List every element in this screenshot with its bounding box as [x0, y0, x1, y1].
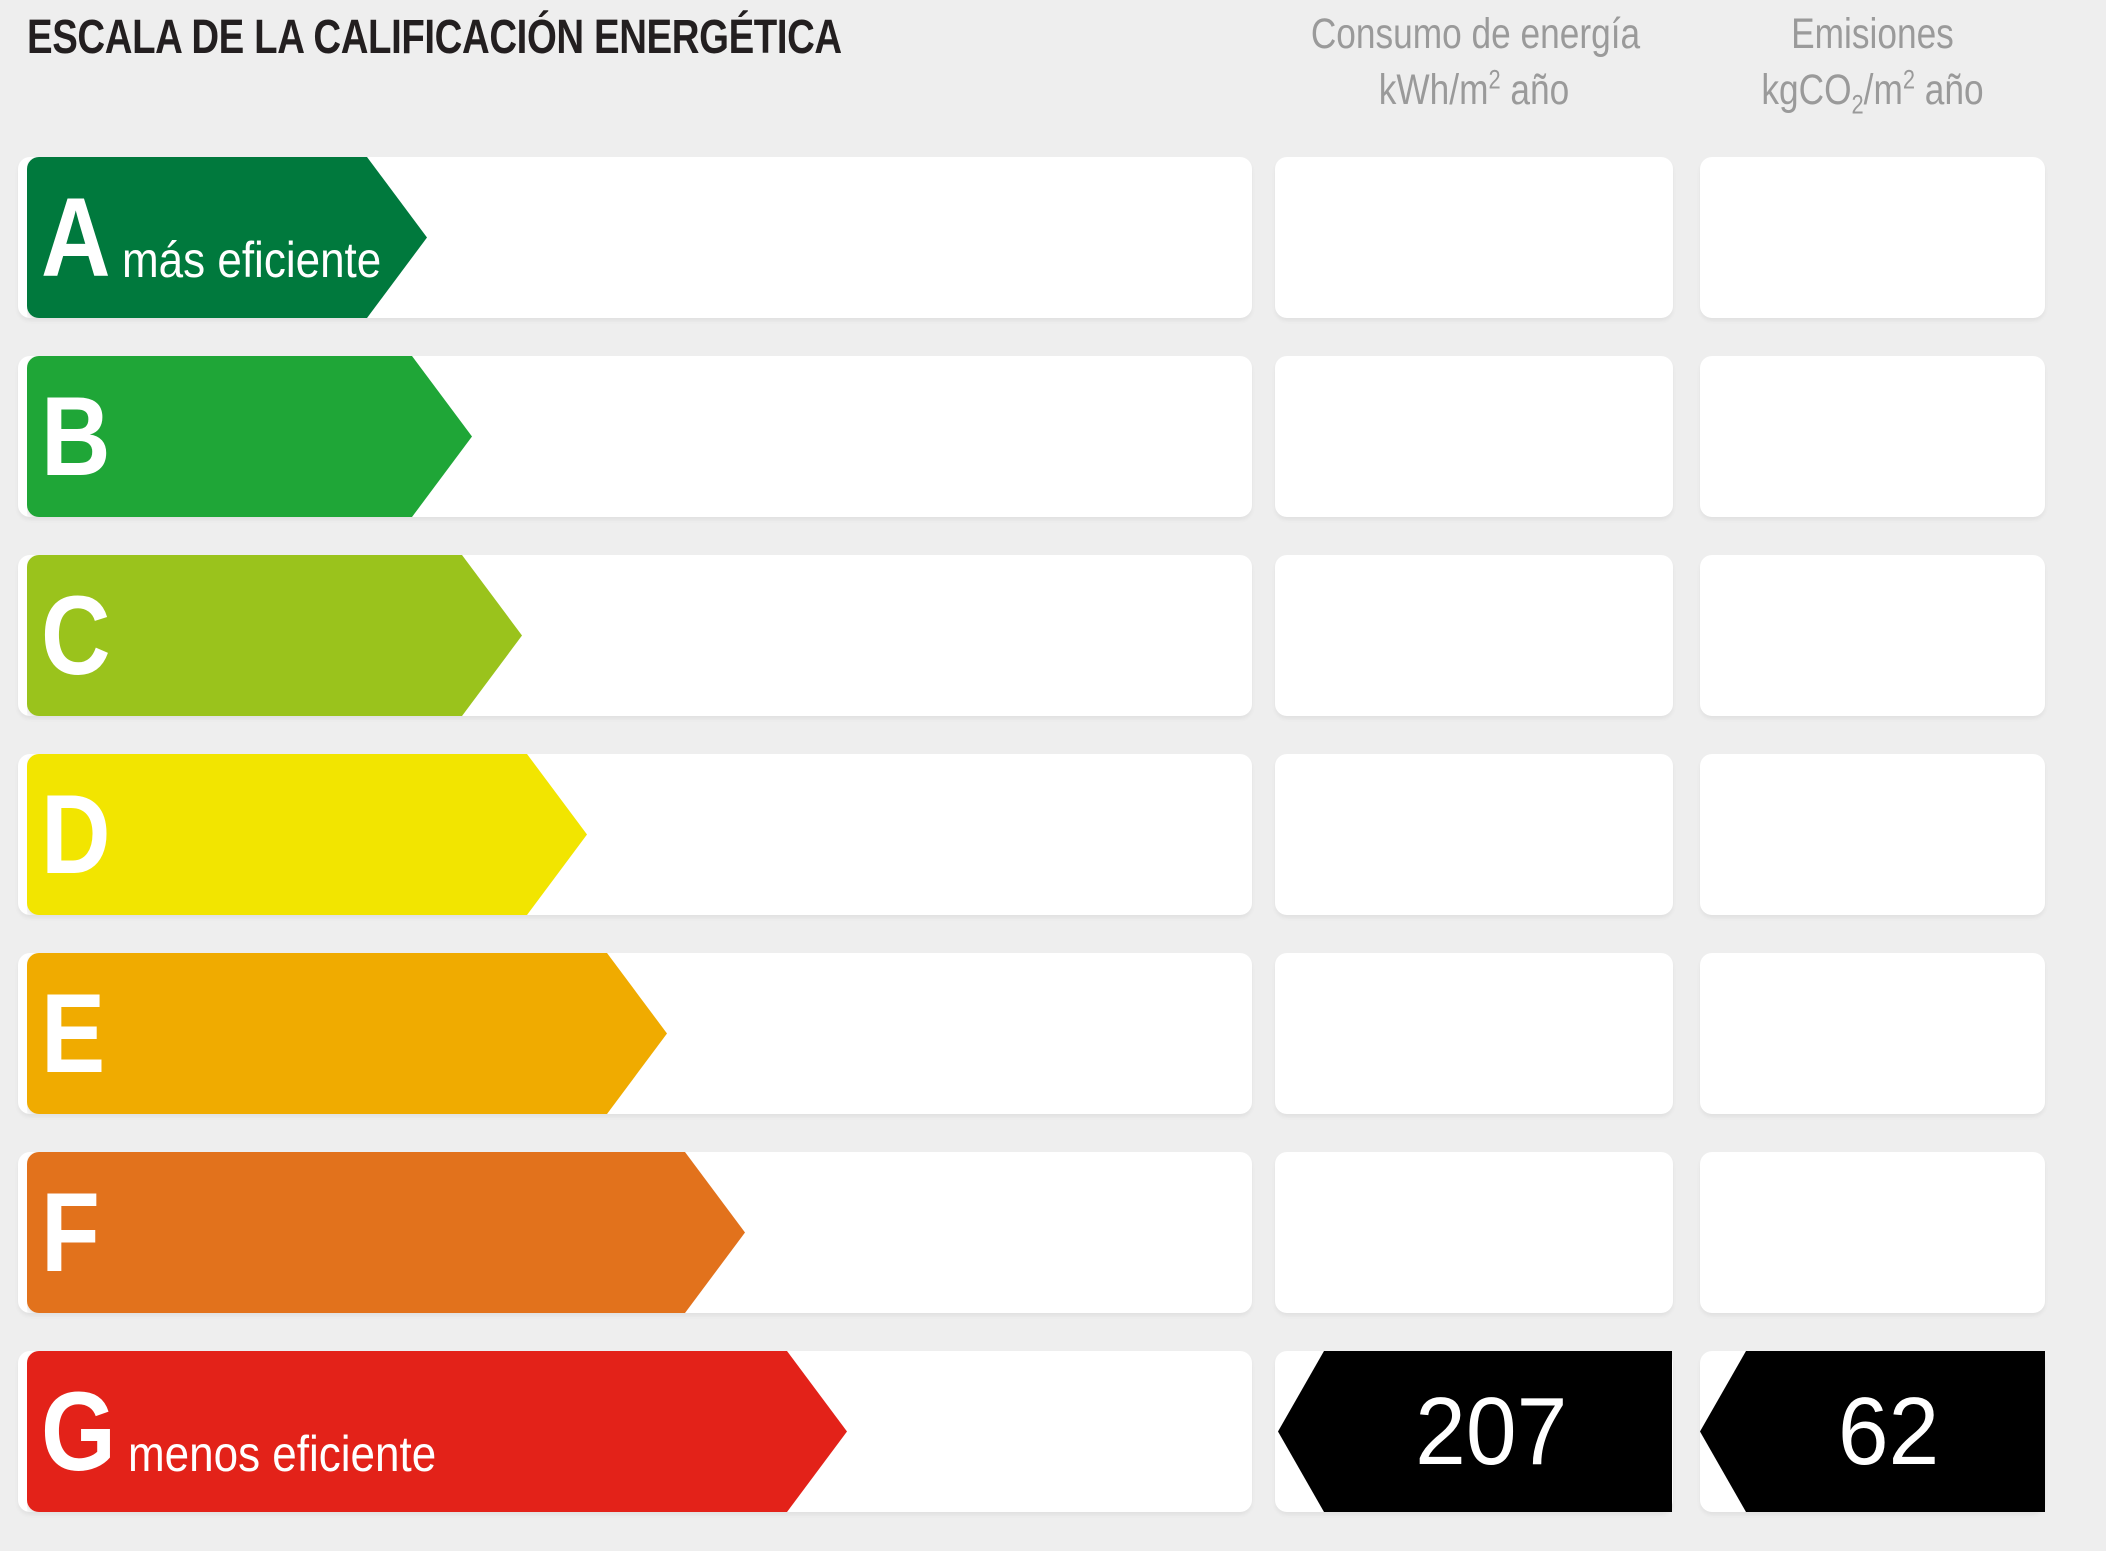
emisiones-cell-b [1700, 356, 2045, 517]
column-header-emisiones: Emisiones kgCO2/m2 año [1700, 6, 2045, 118]
band-note-a: más eficiente [122, 235, 381, 285]
emisiones-cell-a [1700, 157, 2045, 318]
consumo-cell-f [1275, 1152, 1673, 1313]
band-grade-letter-f: F [41, 1189, 100, 1276]
consumo-cell-a [1275, 157, 1673, 318]
rating-row-a: Amás eficiente [0, 157, 2106, 318]
emisiones-cell-e [1700, 953, 2045, 1114]
rating-row-g: Gmenos eficiente20762 [0, 1351, 2106, 1512]
band-grade-letter-g: G [41, 1388, 116, 1475]
column-header-consumo-line2: kWh/m2 año [1311, 62, 1637, 118]
header: ESCALA DE LA CALIFICACIÓN ENERGÉTICA Con… [0, 0, 2106, 145]
energy-band-d: D [27, 754, 587, 915]
emisiones-value-badge-text: 62 [1806, 1384, 1940, 1480]
band-grade-letter-b: B [41, 393, 111, 480]
energy-rating-scale: ESCALA DE LA CALIFICACIÓN ENERGÉTICA Con… [0, 0, 2106, 1551]
rating-row-f: F [0, 1152, 2106, 1313]
energy-band-a: Amás eficiente [27, 157, 427, 318]
page-title: ESCALA DE LA CALIFICACIÓN ENERGÉTICA [27, 10, 842, 65]
column-header-emisiones-line2: kgCO2/m2 año [1731, 62, 2014, 118]
energy-band-c: C [27, 555, 522, 716]
column-header-consumo-line1: Consumo de energía [1311, 6, 1637, 62]
consumo-cell-b [1275, 356, 1673, 517]
energy-band-g: Gmenos eficiente [27, 1351, 847, 1512]
consumo-value-badge-text: 207 [1383, 1384, 1567, 1480]
energy-band-f: F [27, 1152, 745, 1313]
consumo-cell-c [1275, 555, 1673, 716]
band-grade-letter-d: D [41, 791, 111, 878]
rating-row-d: D [0, 754, 2106, 915]
band-grade-letter-c: C [41, 592, 111, 679]
band-grade-letter-e: E [41, 990, 105, 1077]
consumo-value-badge: 207 [1278, 1351, 1672, 1512]
consumo-cell-d [1275, 754, 1673, 915]
energy-band-e: E [27, 953, 667, 1114]
rating-row-e: E [0, 953, 2106, 1114]
emisiones-cell-f [1700, 1152, 2045, 1313]
emisiones-cell-d [1700, 754, 2045, 915]
energy-band-b: B [27, 356, 472, 517]
column-header-consumo: Consumo de energía kWh/m2 año [1275, 6, 1673, 118]
rating-row-b: B [0, 356, 2106, 517]
rating-row-c: C [0, 555, 2106, 716]
consumo-cell-e [1275, 953, 1673, 1114]
emisiones-value-badge: 62 [1700, 1351, 2045, 1512]
band-note-g: menos eficiente [128, 1429, 436, 1479]
band-grade-letter-a: A [41, 194, 111, 281]
emisiones-cell-c [1700, 555, 2045, 716]
column-header-emisiones-line1: Emisiones [1731, 6, 2014, 62]
